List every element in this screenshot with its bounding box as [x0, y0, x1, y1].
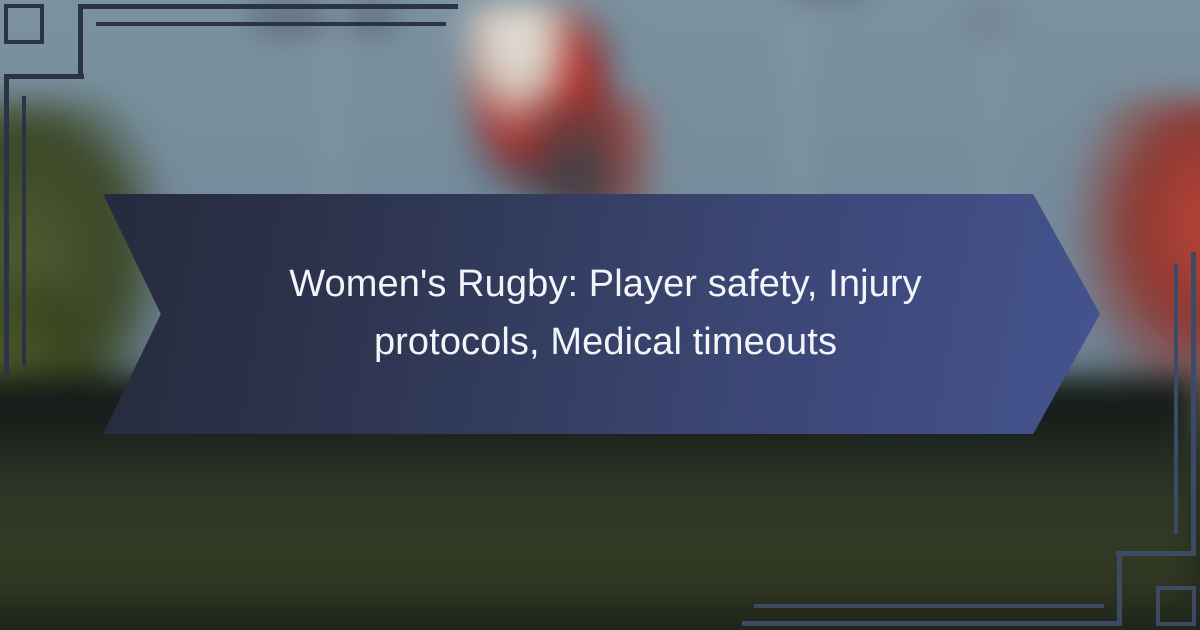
page-title: Women's Rugby: Player safety, Injury pro…: [286, 256, 926, 372]
title-ribbon: Women's Rugby: Player safety, Injury pro…: [103, 194, 1100, 434]
floodlight-lamp-1: [252, 4, 326, 32]
floodlight-lamp-4: [966, 11, 1008, 34]
page-title-line-1: Women's Rugby: Player safety, Injury: [289, 263, 921, 305]
banner-card: Women's Rugby: Player safety, Injury pro…: [0, 0, 1200, 630]
spectator-blob-right: [1066, 98, 1200, 416]
floodlight-lamp-2: [350, 4, 395, 32]
page-title-line-2: protocols, Medical timeouts: [374, 321, 837, 363]
